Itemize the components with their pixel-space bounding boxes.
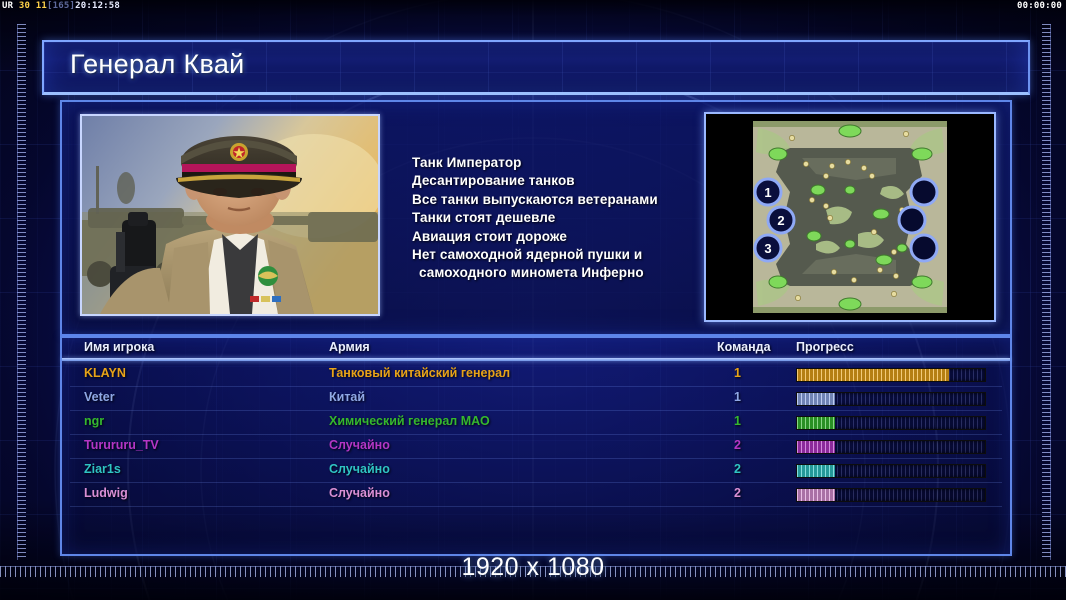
player-name: Ludwig [84,486,128,500]
player-roster: Имя игрока Армия Команда Прогресс KLAYNТ… [60,336,1012,556]
player-progress-fill [797,417,835,429]
svg-text:1: 1 [764,185,771,200]
status-num-1: 30 [19,1,30,11]
ruler-left [17,24,26,560]
status-prefix: UR [2,1,13,11]
status-bracket: [165] [47,1,75,11]
roster-rows: KLAYNТанковый китайский генерал1VeterКит… [62,363,1010,507]
table-row[interactable]: ngrХимический генерал МАО1 [62,411,1010,435]
player-name: Ziar1s [84,462,121,476]
player-progress-fill [797,441,835,453]
description-line: самоходного миномета Инферно [412,264,722,282]
svg-text:3: 3 [764,241,771,256]
description-line: Танки стоят дешевле [412,209,722,227]
player-progress-bar [796,392,986,406]
ruler-right [1042,24,1051,560]
status-strip: UR 30 11[165]20:12:58 00:00:00 [0,0,1066,13]
column-header-player-name: Имя игрока [84,340,154,354]
status-left: UR 30 11[165]20:12:58 [2,1,120,12]
player-name: KLAYN [84,366,126,380]
column-header-army: Армия [329,340,370,354]
svg-text:2: 2 [777,213,784,228]
header-divider [62,358,1010,361]
description-line: Танк Император [412,154,722,172]
table-row[interactable]: Ziar1sСлучайно2 [62,459,1010,483]
description-line: Авиация стоит дороже [412,228,722,246]
player-team: 1 [734,414,741,428]
player-name: Turururu_TV [84,438,159,452]
player-team: 2 [734,462,741,476]
player-army: Химический генерал МАО [329,414,490,428]
description-line: Все танки выпускаются ветеранами [412,191,722,209]
table-row[interactable]: VeterКитай1 [62,387,1010,411]
player-army: Случайно [329,486,390,500]
description-line: Нет самоходной ядерной пушки и [412,246,722,264]
player-progress-fill [797,465,835,477]
player-progress-bar [796,488,986,502]
description-line: Десантирование танков [412,172,722,190]
column-header-progress: Прогресс [796,340,854,354]
player-army: Случайно [329,438,390,452]
status-num-2: 11 [36,1,47,11]
resolution-label: 1920 x 1080 [0,553,1066,582]
player-team: 1 [734,390,741,404]
general-description: Танк Император Десантирование танков Все… [412,154,722,283]
match-minimap[interactable]: 1 2 3 [704,112,996,322]
player-team: 2 [734,438,741,452]
table-row[interactable]: LudwigСлучайно2 [62,483,1010,507]
game-lobby-screen: UR 30 11[165]20:12:58 00:00:00 Генерал К… [0,0,1066,600]
player-team: 1 [734,366,741,380]
row-divider [70,506,1002,507]
player-progress-fill [797,369,949,381]
player-army: Китай [329,390,365,404]
title-bar: Генерал Квай [42,40,1030,95]
status-right-clock: 00:00:00 [1017,1,1062,12]
player-progress-bar [796,440,986,454]
table-row[interactable]: KLAYNТанковый китайский генерал1 [62,363,1010,387]
player-progress-fill [797,489,835,501]
general-info-panel: Танк Император Десантирование танков Все… [60,100,1012,336]
player-progress-bar [796,416,986,430]
general-kwai-portrait [80,114,380,316]
player-name: Veter [84,390,115,404]
player-team: 2 [734,486,741,500]
player-progress-bar [796,464,986,478]
player-army: Случайно [329,462,390,476]
roster-header: Имя игрока Армия Команда Прогресс [62,338,1010,360]
player-progress-fill [797,393,835,405]
column-header-team: Команда [717,340,771,354]
player-progress-bar [796,368,986,382]
player-name: ngr [84,414,104,428]
page-title: Генерал Квай [70,49,245,80]
player-army: Танковый китайский генерал [329,366,510,380]
table-row[interactable]: Turururu_TVСлучайно2 [62,435,1010,459]
status-clock: 20:12:58 [75,1,120,11]
